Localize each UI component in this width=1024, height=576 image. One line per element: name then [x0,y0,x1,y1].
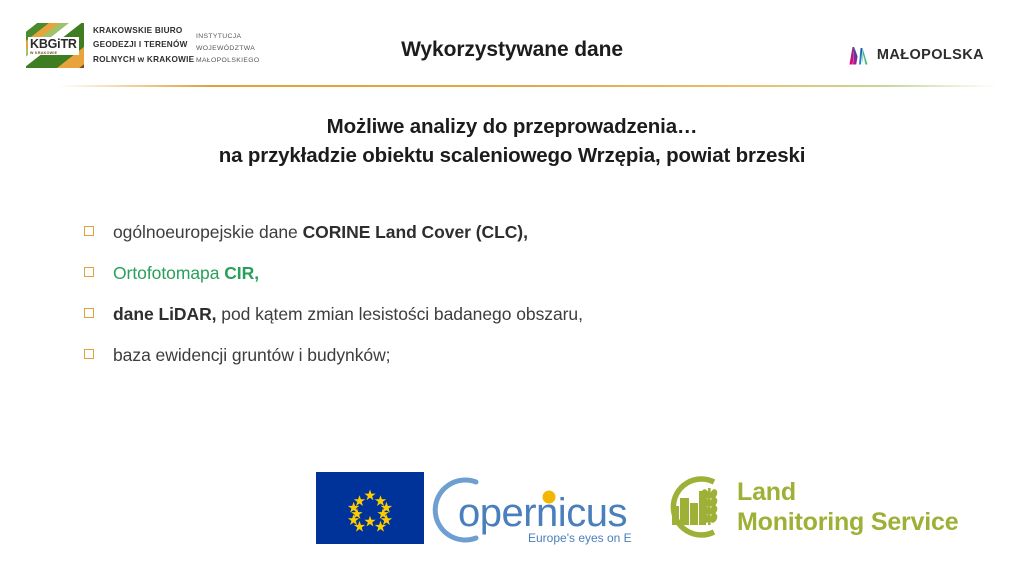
square-bullet-icon [84,349,97,362]
list-item: dane LiDAR, pod kątem zmian lesistości b… [84,304,944,325]
malopolska-m-icon [848,44,870,65]
lms-line-2: Monitoring Service [737,507,958,538]
copernicus-logo: opernicus Europe's eyes on Earth [316,472,632,550]
footer-logos: opernicus Europe's eyes on Earth [0,466,1024,561]
land-monitoring-service-wordmark: Land Monitoring Service [737,477,958,538]
slide-header: KBGiTR W KRAKOWIE KRAKOWSKIE BIURO GEODE… [0,0,1024,84]
list-item: ogólnoeuropejskie dane CORINE Land Cover… [84,222,944,243]
copernicus-wordmark: opernicus Europe's eyes on Earth [432,472,632,550]
list-item-text-normal-after: pod kątem zmian lesistości badanego obsz… [217,304,583,324]
kbgitr-acronym: KBGiTR [30,38,77,51]
list-item-text: dane LiDAR, pod kątem zmian lesistości b… [113,304,583,325]
list-item-text-bold: CIR, [224,263,259,283]
list-item-text: Ortofotomapa CIR, [113,263,259,284]
land-monitoring-service-logo: Land Monitoring Service [656,470,958,544]
square-bullet-icon [84,267,97,280]
lms-line-1: Land [737,477,958,508]
kbgitr-name-line-1: KRAKOWSKIE BIURO [93,24,194,38]
list-item-text-normal: Ortofotomapa [113,263,224,283]
square-bullet-icon [84,226,97,239]
slide-subtitle: Możliwe analizy do przeprowadzenia… na p… [0,112,1024,170]
slide-root: { "header": { "org_logo": { "mark_text_p… [0,0,1024,576]
copernicus-tagline-text: Europe's eyes on Earth [528,531,632,545]
list-item-text-normal: baza ewidencji gruntów i budynków; [113,345,391,365]
list-item: baza ewidencji gruntów i budynków; [84,345,944,366]
list-item-text-bold: dane LiDAR, [113,304,217,324]
kbgitr-city: W KRAKOWIE [30,52,77,56]
malopolska-wordmark: MAŁOPOLSKA [877,47,984,63]
land-monitoring-circle-icon [656,470,728,544]
square-bullet-icon [84,308,97,321]
malopolska-logo: MAŁOPOLSKA [848,44,984,65]
list-item-text-bold: CORINE Land Cover (CLC), [303,222,528,242]
eu-flag-icon [316,472,424,544]
header-divider [58,85,998,87]
bullet-list: ogólnoeuropejskie dane CORINE Land Cover… [84,222,944,386]
list-item-text: baza ewidencji gruntów i budynków; [113,345,391,366]
kbgitr-wordmark: KBGiTR W KRAKOWIE [28,37,79,55]
list-item-text: ogólnoeuropejskie dane CORINE Land Cover… [113,222,528,243]
list-item: Ortofotomapa CIR, [84,263,944,284]
copernicus-text: opernicus [458,491,627,535]
subtitle-line-2: na przykładzie obiektu scaleniowego Wrzę… [0,141,1024,170]
subtitle-line-1: Możliwe analizy do przeprowadzenia… [0,112,1024,141]
list-item-text-normal: ogólnoeuropejskie dane [113,222,303,242]
